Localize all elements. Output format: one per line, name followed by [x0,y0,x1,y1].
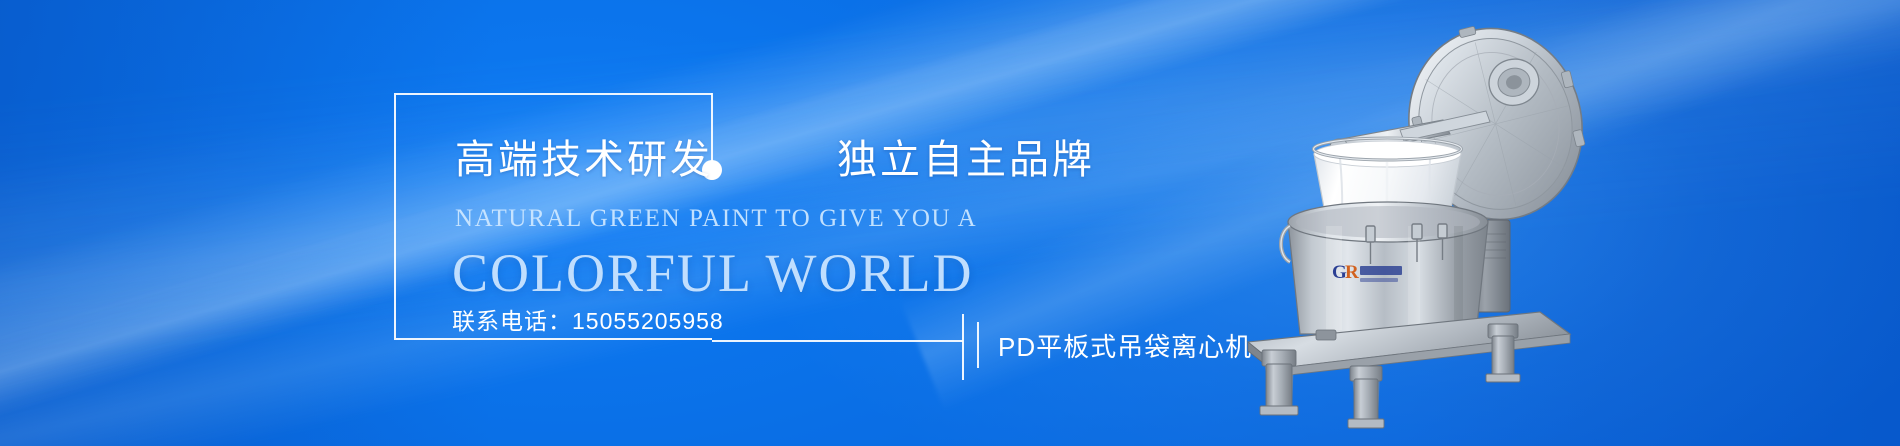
headline-part-1: 高端技术研发 [455,140,713,180]
caption-vertical-rule-long [962,314,964,380]
caption-horizontal-rule [712,340,963,342]
svg-text:R: R [1345,262,1359,283]
bigline-text: COLORFUL WORLD [452,242,974,304]
product-caption: PD平板式吊袋离心机 [998,327,1252,364]
headline: 高端技术研发 独立自主品牌 [455,140,1095,180]
subline-text: NATURAL GREEN PAINT TO GIVE YOU A [455,205,977,233]
contact-phone[interactable]: 联系电话：15055205958 [452,302,724,336]
promo-banner: 高端技术研发 独立自主品牌 NATURAL GREEN PAINT TO GIV… [0,0,1900,446]
caption-vertical-rule-short [977,322,979,368]
headline-part-2: 独立自主品牌 [837,140,1095,180]
product-image: G R [1240,12,1670,432]
